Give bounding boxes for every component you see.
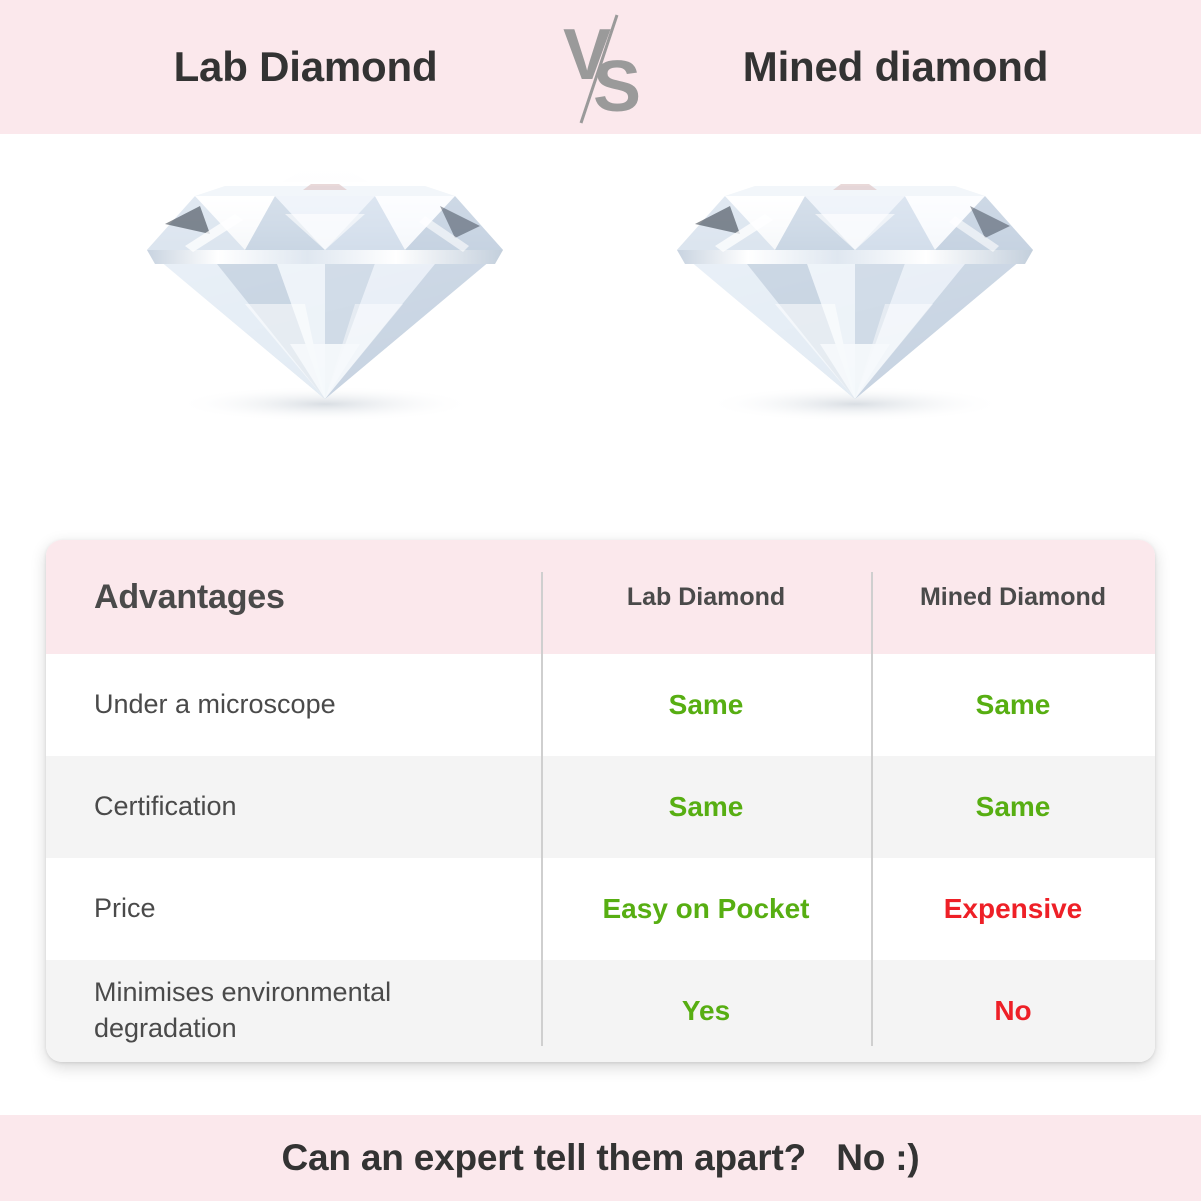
table-header: Advantages Lab Diamond Mined Diamond (46, 540, 1155, 654)
lab-diamond-title: Lab Diamond (71, 43, 541, 91)
row-lab-value: Same (541, 654, 871, 756)
table-row: Minimises environmental degradation Yes … (46, 960, 1155, 1062)
row-lab-value: Easy on Pocket (541, 858, 871, 960)
bottom-banner: Can an expert tell them apart? No :) (0, 1115, 1201, 1201)
comparison-table-card: Advantages Lab Diamond Mined Diamond Und… (46, 540, 1155, 1062)
column-header-mined-diamond: Mined Diamond (871, 540, 1155, 654)
row-mined-value: Same (871, 654, 1155, 756)
lab-diamond-image (125, 154, 525, 454)
row-lab-value: Same (541, 756, 871, 858)
row-mined-value: Expensive (871, 858, 1155, 960)
table-row: Under a microscope Same Same (46, 654, 1155, 756)
table-row: Price Easy on Pocket Expensive (46, 858, 1155, 960)
svg-text:S: S (593, 47, 641, 127)
table-header-row: Advantages Lab Diamond Mined Diamond (46, 540, 1155, 654)
row-lab-value: Yes (541, 960, 871, 1062)
table-row: Certification Same Same (46, 756, 1155, 858)
row-feature-label: Minimises environmental degradation (46, 960, 541, 1062)
mined-diamond-title: Mined diamond (661, 43, 1131, 91)
column-header-lab-diamond: Lab Diamond (541, 540, 871, 654)
table-body: Under a microscope Same Same Certificati… (46, 654, 1155, 1062)
top-banner: Lab Diamond V S Mined diamond (0, 0, 1201, 134)
column-header-advantages: Advantages (46, 540, 541, 654)
mined-diamond-image (655, 154, 1055, 454)
row-feature-label: Price (46, 858, 541, 960)
expert-question-text: Can an expert tell them apart? No :) (282, 1137, 920, 1179)
vs-icon: V S (541, 7, 661, 127)
comparison-table: Advantages Lab Diamond Mined Diamond Und… (46, 540, 1155, 1062)
row-mined-value: No (871, 960, 1155, 1062)
row-feature-label: Under a microscope (46, 654, 541, 756)
row-mined-value: Same (871, 756, 1155, 858)
diamond-images-strip (0, 134, 1201, 534)
row-feature-label: Certification (46, 756, 541, 858)
